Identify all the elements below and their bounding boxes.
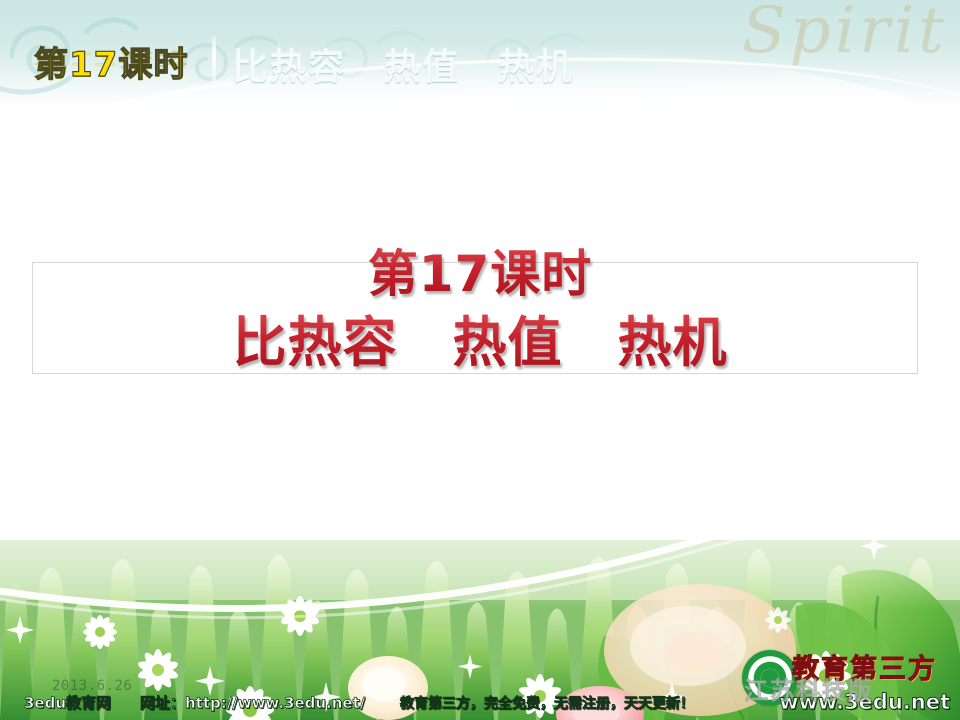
slide-header-band: Spirit 第17课时 第17课时 比热容 热值 热机 — [0, 0, 960, 108]
content-placeholder-box[interactable] — [32, 262, 918, 374]
header-subtitle: 比热容 热值 热机 — [232, 38, 574, 90]
brand-name: 教育第三方 — [792, 647, 937, 686]
header-separator — [212, 36, 216, 84]
footer-site-name[interactable]: 3edu教育网 — [24, 692, 111, 713]
brand-block: 教育第三方 www.3edu.net — [736, 642, 954, 716]
script-decoration: Spirit — [742, 0, 948, 68]
footer-tagline: 教育第三方，完全免费，无需注册，天天更新！ — [400, 693, 694, 713]
footer-site-url[interactable]: 网址：http://www.3edu.net/ — [140, 692, 365, 713]
header-lesson-number: 第17课时 — [34, 37, 188, 86]
presentation-slide: Spirit 第17课时 第17课时 比热容 热值 热机 第17课时 比热容 热… — [0, 0, 960, 720]
brand-url[interactable]: www.3edu.net — [779, 690, 950, 714]
